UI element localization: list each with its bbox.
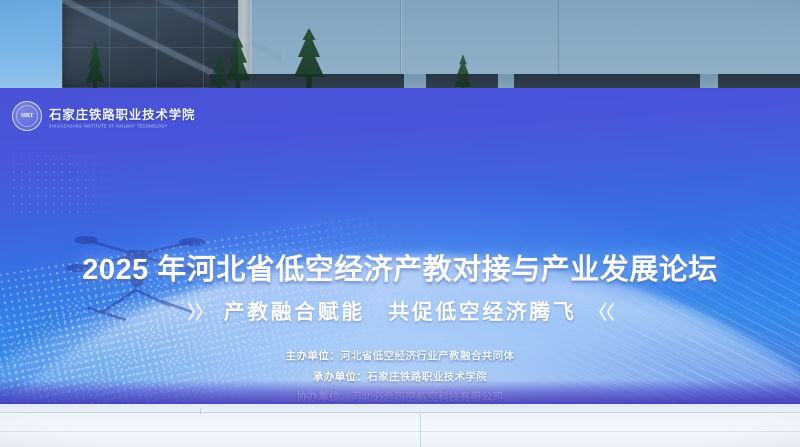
organizer-label: 主办单位：: [286, 350, 341, 362]
logo-name-cn: 石家庄铁路职业技术学院: [49, 104, 195, 123]
background-photograph: [0, 0, 800, 100]
banner-subtitle-row: 〉〉 产教融合赋能 共促低空经济腾飞 〈〈: [0, 296, 800, 326]
chevron-right-icon: 〉〉: [187, 298, 212, 325]
institution-logo: SIRT 石家庄铁路职业技术学院 SHIJIAZHUANG INSTITUTE …: [12, 101, 195, 131]
banner-subtitle: 产教融合赋能 共促低空经济腾飞: [224, 296, 577, 326]
screenshot-root: SIRT 石家庄铁路职业技术学院 SHIJIAZHUANG INSTITUTE …: [0, 0, 800, 447]
floor-surface: [0, 404, 800, 447]
organizer-row: 主办单位：河北省低空经济行业产教融合共同体: [286, 348, 515, 363]
building-facade: [248, 0, 800, 78]
event-banner: SIRT 石家庄铁路职业技术学院 SHIJIAZHUANG INSTITUTE …: [0, 88, 800, 406]
chevron-left-icon: 〈〈: [588, 298, 613, 325]
banner-bottom-rim: [0, 380, 800, 406]
banner-main-title: 2025 年河北省低空经济产教对接与产业发展论坛: [0, 246, 800, 288]
logo-emblem-icon: SIRT: [12, 101, 42, 131]
organizer-value: 河北省低空经济行业产教融合共同体: [340, 350, 514, 362]
logo-emblem-text: SIRT: [21, 113, 34, 119]
logo-name-en: SHIJIAZHUANG INSTITUTE OF RAILWAY TECHNO…: [49, 124, 195, 129]
